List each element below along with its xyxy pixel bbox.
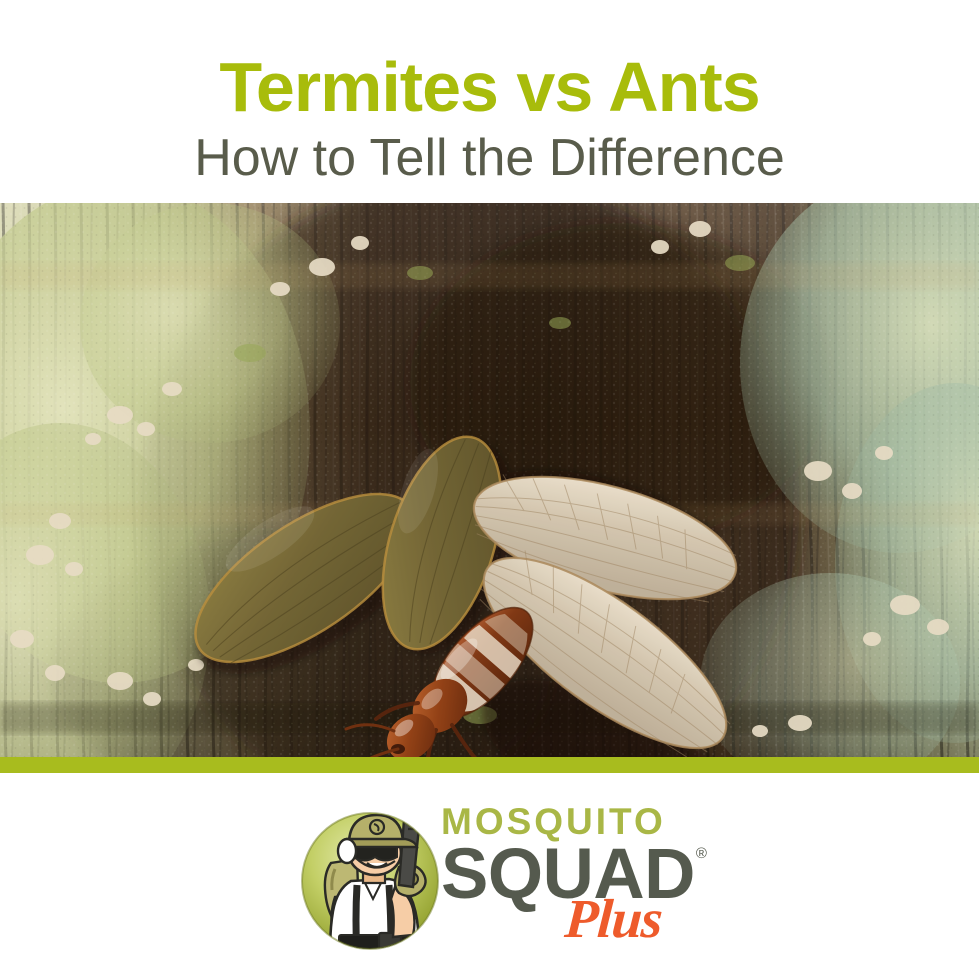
- termite-on-bark-illustration: [0, 203, 979, 757]
- page-title: Termites vs Ants: [0, 0, 979, 122]
- registered-trademark-icon: ®: [696, 845, 707, 862]
- page-subtitle: How to Tell the Difference: [0, 122, 979, 184]
- ear-muff: [338, 839, 356, 863]
- mascot-figure: [325, 793, 430, 954]
- logo-word-plus: Plus: [563, 891, 664, 946]
- logo-area: MOSQUITO SQUAD® Plus: [0, 773, 979, 979]
- mosquito-squad-plus-logo[interactable]: MOSQUITO SQUAD® Plus: [295, 787, 695, 957]
- mascot-badge-icon: [295, 789, 445, 954]
- header: Termites vs Ants How to Tell the Differe…: [0, 0, 979, 203]
- hero-photo: [0, 203, 979, 757]
- green-divider-bar: [0, 757, 979, 773]
- poster-root: Termites vs Ants How to Tell the Differe…: [0, 0, 979, 979]
- logo-wordmark: MOSQUITO SQUAD® Plus: [441, 803, 691, 953]
